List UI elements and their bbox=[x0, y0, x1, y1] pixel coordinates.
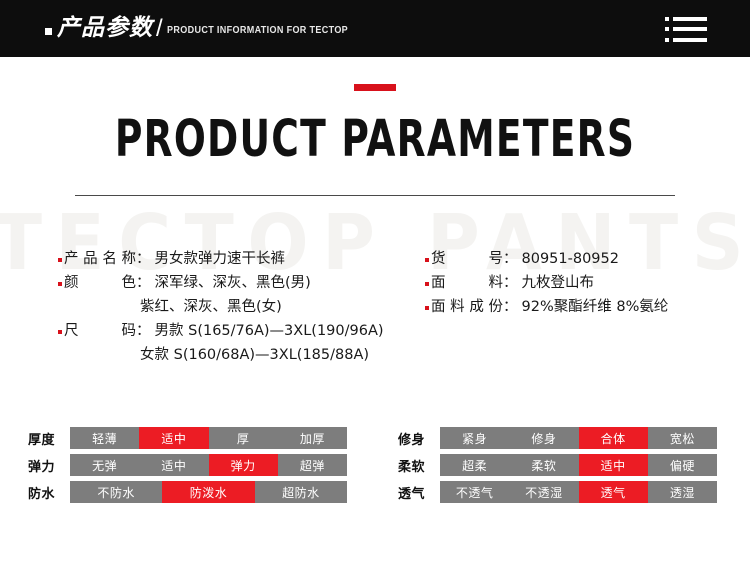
attribute-option[interactable]: 宽松 bbox=[648, 427, 717, 449]
menu-bar bbox=[673, 27, 707, 31]
spec-label: 面 料 bbox=[431, 271, 503, 292]
list-menu-icon[interactable] bbox=[665, 16, 707, 42]
menu-dot-icon bbox=[665, 17, 669, 21]
bullet-icon bbox=[58, 282, 62, 286]
attribute-option[interactable]: 超柔 bbox=[440, 454, 509, 476]
spec-value: 女款 S(160/68A)—3XL(185/88A) bbox=[140, 343, 369, 364]
attribute-name: 防水 bbox=[28, 483, 70, 502]
menu-bar bbox=[673, 17, 707, 21]
spec-colon: ： bbox=[503, 247, 518, 268]
attribute-option-selected[interactable]: 适中 bbox=[579, 454, 648, 476]
attribute-option[interactable]: 无弹 bbox=[70, 454, 139, 476]
attribute-scale: 无弹适中弹力超弹 bbox=[70, 454, 347, 476]
spec-list-right: 货 号：80951-80952面 料：九枚登山布面料成份：92%聚酯纤维 8%氨… bbox=[425, 247, 725, 319]
spec-value: 男款 S(165/76A)—3XL(190/96A) bbox=[155, 319, 384, 340]
attribute-option-selected[interactable]: 透气 bbox=[579, 481, 648, 503]
menu-dot-icon bbox=[665, 38, 669, 42]
spec-label: 尺 码 bbox=[64, 319, 136, 340]
menu-row bbox=[665, 16, 707, 21]
attribute-option[interactable]: 不透气 bbox=[440, 481, 509, 503]
spec-row: 产品名称：男女款弹力速干长裤 bbox=[58, 247, 438, 271]
square-marker-icon bbox=[45, 28, 52, 35]
attribute-row: 修身紧身修身合体宽松 bbox=[398, 427, 717, 449]
menu-row bbox=[665, 27, 707, 32]
attribute-row: 厚度轻薄适中厚加厚 bbox=[28, 427, 347, 449]
bullet-icon bbox=[58, 330, 62, 334]
spec-value: 九枚登山布 bbox=[522, 271, 595, 292]
menu-dot-icon bbox=[665, 27, 669, 31]
attribute-option-selected[interactable]: 弹力 bbox=[209, 454, 278, 476]
bullet-placeholder bbox=[58, 306, 62, 310]
bullet-placeholder bbox=[58, 354, 62, 358]
spec-colon: ： bbox=[136, 319, 151, 340]
attribute-scale: 紧身修身合体宽松 bbox=[440, 427, 717, 449]
attribute-option[interactable]: 修身 bbox=[509, 427, 578, 449]
attribute-row: 柔软超柔柔软适中偏硬 bbox=[398, 454, 717, 476]
attribute-option[interactable]: 超弹 bbox=[278, 454, 347, 476]
spec-label: 颜 色 bbox=[64, 271, 136, 292]
spec-colon: ： bbox=[503, 271, 518, 292]
spec-value: 92%聚酯纤维 8%氨纶 bbox=[522, 295, 669, 316]
spec-row: 紫红、深灰、黑色(女) bbox=[58, 295, 438, 319]
spec-row: 面料成份：92%聚酯纤维 8%氨纶 bbox=[425, 295, 725, 319]
spec-value: 80951-80952 bbox=[522, 251, 620, 267]
attribute-scale: 不透气不透湿透气透湿 bbox=[440, 481, 717, 503]
header-title-group: 产品参数 / PRODUCT INFORMATION FOR TECTOP bbox=[45, 0, 377, 57]
header-separator: / bbox=[156, 17, 163, 41]
attribute-option[interactable]: 超防水 bbox=[255, 481, 347, 503]
attribute-row: 透气不透气不透湿透气透湿 bbox=[398, 481, 717, 503]
bullet-icon bbox=[58, 258, 62, 262]
bullet-icon bbox=[425, 306, 429, 310]
attribute-option[interactable]: 不防水 bbox=[70, 481, 162, 503]
spec-colon: ： bbox=[503, 295, 518, 316]
spec-row: 颜 色：深军绿、深灰、黑色(男) bbox=[58, 271, 438, 295]
attribute-option[interactable]: 加厚 bbox=[278, 427, 347, 449]
attribute-option[interactable]: 偏硬 bbox=[648, 454, 717, 476]
header-title-en: PRODUCT INFORMATION FOR TECTOP bbox=[167, 25, 348, 36]
spec-value: 深军绿、深灰、黑色(男) bbox=[155, 271, 311, 292]
spec-row: 面 料：九枚登山布 bbox=[425, 271, 725, 295]
attribute-scale: 超柔柔软适中偏硬 bbox=[440, 454, 717, 476]
attribute-option-selected[interactable]: 合体 bbox=[579, 427, 648, 449]
attribute-option[interactable]: 不透湿 bbox=[509, 481, 578, 503]
bullet-icon bbox=[425, 258, 429, 262]
attribute-name: 弹力 bbox=[28, 456, 70, 475]
spec-label: 产品名称 bbox=[64, 247, 136, 268]
header-title-cn: 产品参数 bbox=[57, 17, 153, 40]
attribute-scale: 不防水防泼水超防水 bbox=[70, 481, 347, 503]
title-divider bbox=[75, 195, 675, 196]
spec-colon: ： bbox=[136, 247, 151, 268]
attribute-name: 柔软 bbox=[398, 456, 440, 475]
attribute-option[interactable]: 柔软 bbox=[509, 454, 578, 476]
attribute-name: 透气 bbox=[398, 483, 440, 502]
bullet-icon bbox=[425, 282, 429, 286]
spec-row: 尺 码：男款 S(165/76A)—3XL(190/96A) bbox=[58, 319, 438, 343]
attribute-row: 防水不防水防泼水超防水 bbox=[28, 481, 347, 503]
spec-value: 男女款弹力速干长裤 bbox=[155, 247, 286, 268]
attribute-option[interactable]: 适中 bbox=[139, 454, 208, 476]
title-accent-rule bbox=[354, 84, 396, 91]
spec-label: 货 号 bbox=[431, 247, 503, 268]
attribute-row: 弹力无弹适中弹力超弹 bbox=[28, 454, 347, 476]
spec-row: 女款 S(160/68A)—3XL(185/88A) bbox=[58, 343, 438, 367]
menu-bar bbox=[673, 38, 707, 42]
menu-row bbox=[665, 37, 707, 42]
attribute-name: 修身 bbox=[398, 429, 440, 448]
attribute-option[interactable]: 透湿 bbox=[648, 481, 717, 503]
spec-value: 紫红、深灰、黑色(女) bbox=[140, 295, 282, 316]
spec-colon: ： bbox=[136, 271, 151, 292]
attribute-scale: 轻薄适中厚加厚 bbox=[70, 427, 347, 449]
attribute-option[interactable]: 轻薄 bbox=[70, 427, 139, 449]
attribute-option-selected[interactable]: 防泼水 bbox=[162, 481, 254, 503]
attribute-name: 厚度 bbox=[28, 429, 70, 448]
page-header-bar: 产品参数 / PRODUCT INFORMATION FOR TECTOP bbox=[0, 0, 750, 57]
spec-row: 货 号：80951-80952 bbox=[425, 247, 725, 271]
attribute-option[interactable]: 紧身 bbox=[440, 427, 509, 449]
attribute-group-right: 修身紧身修身合体宽松柔软超柔柔软适中偏硬透气不透气不透湿透气透湿 bbox=[398, 427, 717, 508]
attribute-option-selected[interactable]: 适中 bbox=[139, 427, 208, 449]
attribute-option[interactable]: 厚 bbox=[209, 427, 278, 449]
attribute-group-left: 厚度轻薄适中厚加厚弹力无弹适中弹力超弹防水不防水防泼水超防水 bbox=[28, 427, 347, 508]
spec-label: 面料成份 bbox=[431, 295, 503, 316]
spec-list-left: 产品名称：男女款弹力速干长裤颜 色：深军绿、深灰、黑色(男)紫红、深灰、黑色(女… bbox=[58, 247, 438, 367]
page-title: PRODUCT PARAMETERS bbox=[68, 114, 683, 165]
